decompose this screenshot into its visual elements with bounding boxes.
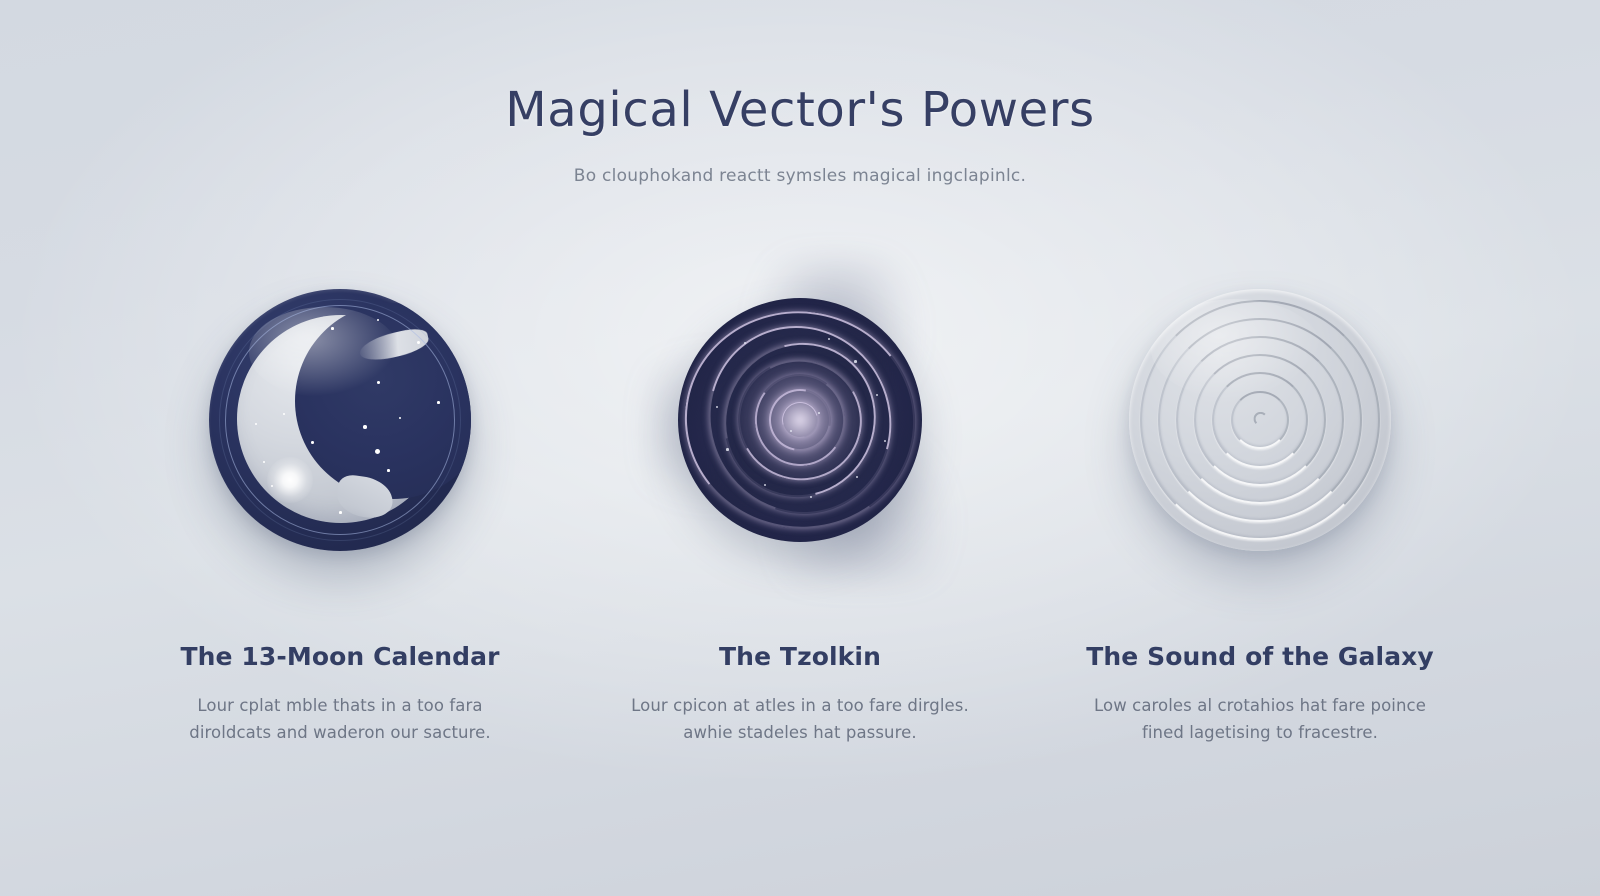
star-dot — [311, 441, 314, 444]
moon-outer-ring-line — [219, 299, 461, 541]
star-dot — [363, 425, 367, 429]
feature-card-moon-calendar[interactable]: The 13-Moon Calendar Lour cplat mble tha… — [110, 250, 570, 746]
star-dot — [331, 327, 334, 330]
spiral-galaxy-vortex-illustration — [640, 250, 960, 590]
galaxy-star-dot — [818, 412, 820, 414]
page-header: Magical Vector's Powers Bo clouphokand r… — [0, 0, 1600, 186]
moon-disc-body — [209, 289, 471, 551]
star-dot — [377, 319, 379, 321]
feature-card-tzolkin[interactable]: The Tzolkin Lour cpicon at atles in a to… — [570, 250, 1030, 746]
card-body-text: Lour cpicon at atles in a too fare dirgl… — [620, 693, 980, 746]
card-title: The 13-Moon Calendar — [180, 642, 499, 671]
ripple-spiral-center-nub — [1254, 412, 1268, 426]
galaxy-center-glow — [736, 356, 864, 484]
galaxy-container — [650, 260, 950, 580]
galaxy-star-dot — [764, 484, 766, 486]
galaxy-star-dot — [716, 406, 718, 408]
star-dot — [271, 485, 273, 487]
feature-cards-row: The 13-Moon Calendar Lour cplat mble tha… — [0, 250, 1600, 746]
galaxy-star-dot — [854, 360, 857, 363]
crescent-moon-disc-illustration — [180, 250, 500, 590]
ripple-disc-body — [1129, 289, 1391, 551]
feature-card-sound-of-galaxy[interactable]: The Sound of the Galaxy Low caroles al c… — [1030, 250, 1490, 746]
card-title: The Sound of the Galaxy — [1086, 642, 1434, 671]
star-dot — [375, 449, 380, 454]
card-body-text: Lour cplat mble thats in a too fara diro… — [160, 693, 520, 746]
star-dot — [339, 511, 342, 514]
galaxy-star-dot — [856, 476, 858, 478]
concentric-ripple-disc-illustration — [1100, 250, 1420, 590]
star-dot — [387, 469, 390, 472]
galaxy-star-dot — [828, 338, 830, 340]
card-title: The Tzolkin — [719, 642, 881, 671]
page-subtitle: Bo clouphokand reactt symsles magical in… — [0, 166, 1600, 186]
star-dot — [377, 381, 380, 384]
galaxy-core-disc — [678, 298, 922, 542]
galaxy-star-dot — [726, 448, 729, 451]
star-dot — [255, 423, 257, 425]
star-dot — [437, 401, 440, 404]
card-body-text: Low caroles al crotahios hat fare poince… — [1080, 693, 1440, 746]
page-title: Magical Vector's Powers — [0, 86, 1600, 134]
